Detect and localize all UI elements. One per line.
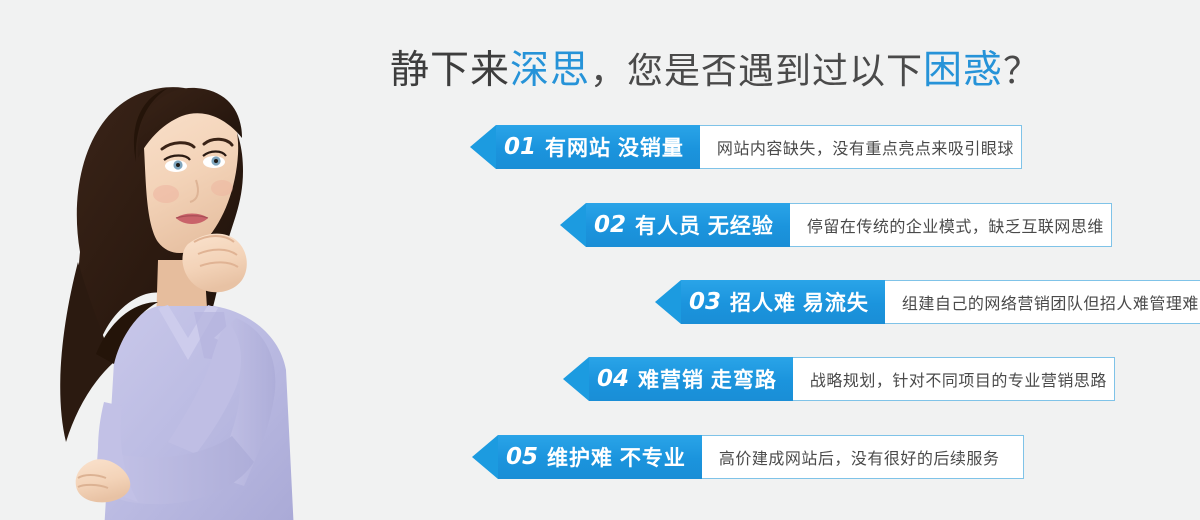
arrow-left-icon bbox=[472, 435, 498, 479]
problem-tag-label: 招人难 易流失 bbox=[730, 287, 869, 317]
problem-number: 02 bbox=[594, 212, 626, 238]
problem-tag-label: 有人员 无经验 bbox=[635, 210, 774, 240]
problem-description: 高价建成网站后，没有很好的后续服务 bbox=[702, 435, 1024, 479]
problem-row[interactable]: 03招人难 易流失组建自己的网络营销团队但招人难管理难 bbox=[655, 280, 1200, 324]
problem-description: 网站内容缺失，没有重点亮点来吸引眼球 bbox=[700, 125, 1022, 169]
problem-description: 战略规划，针对不同项目的专业营销思路 bbox=[793, 357, 1115, 401]
problem-tag: 03招人难 易流失 bbox=[681, 280, 885, 324]
problem-description: 组建自己的网络营销团队但招人难管理难 bbox=[885, 280, 1200, 324]
problem-number: 05 bbox=[506, 444, 538, 470]
problem-row[interactable]: 01有网站 没销量网站内容缺失，没有重点亮点来吸引眼球 bbox=[470, 125, 1022, 169]
arrow-left-icon bbox=[560, 203, 586, 247]
problem-tag-label: 难营销 走弯路 bbox=[638, 364, 777, 394]
problem-tag-label: 有网站 没销量 bbox=[545, 132, 684, 162]
promo-banner: 静下来深思，您是否遇到过以下困惑？ 01有网站 没销量网站内容缺失，没有重点亮点… bbox=[0, 0, 1200, 520]
problem-number: 03 bbox=[689, 289, 721, 315]
problem-row[interactable]: 04难营销 走弯路战略规划，针对不同项目的专业营销思路 bbox=[563, 357, 1115, 401]
problem-number: 01 bbox=[504, 134, 536, 160]
arrow-left-icon bbox=[563, 357, 589, 401]
problem-number: 04 bbox=[597, 366, 629, 392]
problem-tag-label: 维护难 不专业 bbox=[547, 442, 686, 472]
problem-tag: 01有网站 没销量 bbox=[496, 125, 700, 169]
problem-description: 停留在传统的企业模式，缺乏互联网思维 bbox=[790, 203, 1112, 247]
problem-tag: 05维护难 不专业 bbox=[498, 435, 702, 479]
problem-tag: 04难营销 走弯路 bbox=[589, 357, 793, 401]
problem-row[interactable]: 02有人员 无经验停留在传统的企业模式，缺乏互联网思维 bbox=[560, 203, 1112, 247]
arrow-left-icon bbox=[655, 280, 681, 324]
arrow-left-icon bbox=[470, 125, 496, 169]
problem-row[interactable]: 05维护难 不专业高价建成网站后，没有很好的后续服务 bbox=[472, 435, 1024, 479]
problem-list: 01有网站 没销量网站内容缺失，没有重点亮点来吸引眼球02有人员 无经验停留在传… bbox=[0, 0, 1200, 520]
problem-tag: 02有人员 无经验 bbox=[586, 203, 790, 247]
